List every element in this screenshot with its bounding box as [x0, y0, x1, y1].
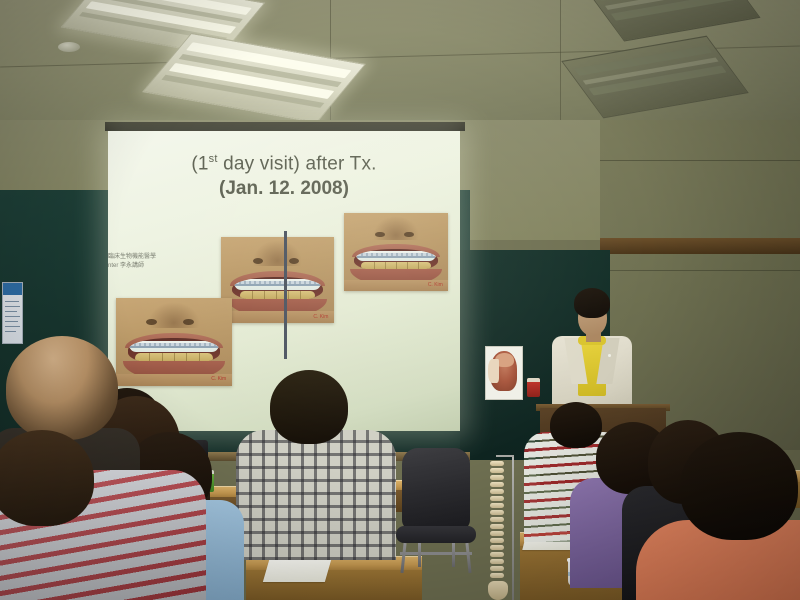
smoke-detector-icon [58, 42, 80, 52]
slide-footer-line2: nter 李永講師 [108, 262, 228, 271]
person-head [6, 336, 118, 440]
slide-footer-text: 臨床生物機能醫學 nter 李永講師 [108, 253, 228, 271]
person-head [270, 370, 348, 444]
chair-seat [396, 526, 476, 543]
red-beverage-can [527, 378, 540, 397]
lapel-microphone-icon [608, 354, 611, 357]
intraoral-photo-center: C. Kim [221, 237, 334, 323]
intraoral-photo-lower-left: C. Kim [116, 298, 232, 386]
spine-model [488, 455, 524, 600]
person-head [550, 402, 602, 448]
chair-backrest [402, 448, 470, 530]
wall-notice-poster [2, 282, 23, 344]
slide-subtitle-date: (Jan. 12. 2008) [108, 178, 460, 200]
slide-title: (1st day visit) after Tx. (Jan. 12. 2008… [108, 153, 460, 200]
slide-title-line1: (1st day visit) after Tx. [108, 153, 460, 176]
slide-title-rest: day visit) after Tx. [218, 153, 377, 174]
person-head [0, 430, 94, 526]
slide-footer-line1: 臨床生物機能醫學 [108, 253, 228, 262]
empty-chair[interactable] [396, 448, 476, 566]
anatomy-chart [485, 346, 523, 400]
intraoral-photo-upper-right: C. Kim [344, 213, 448, 291]
photo-stamp: C. Kim [313, 314, 328, 320]
photo-stamp: C. Kim [428, 282, 443, 288]
ceiling-light-right-back [583, 0, 760, 42]
lecture-hall-photo: (1st day visit) after Tx. (Jan. 12. 2008… [0, 0, 800, 600]
projection-screen-housing [105, 122, 465, 131]
facial-midline-reference-line [284, 231, 287, 359]
presenter-hair [574, 288, 610, 318]
audience-front-left-head [0, 430, 94, 600]
chair-rail [400, 552, 472, 555]
person-torso [236, 430, 396, 560]
document-on-desk [263, 560, 331, 582]
person-head [680, 432, 798, 540]
wall-wood-trim [600, 238, 800, 254]
photo-stamp: C. Kim [211, 376, 226, 382]
slide-title-prefix: (1 [191, 153, 208, 174]
slide-title-ordinal: st [209, 153, 218, 165]
